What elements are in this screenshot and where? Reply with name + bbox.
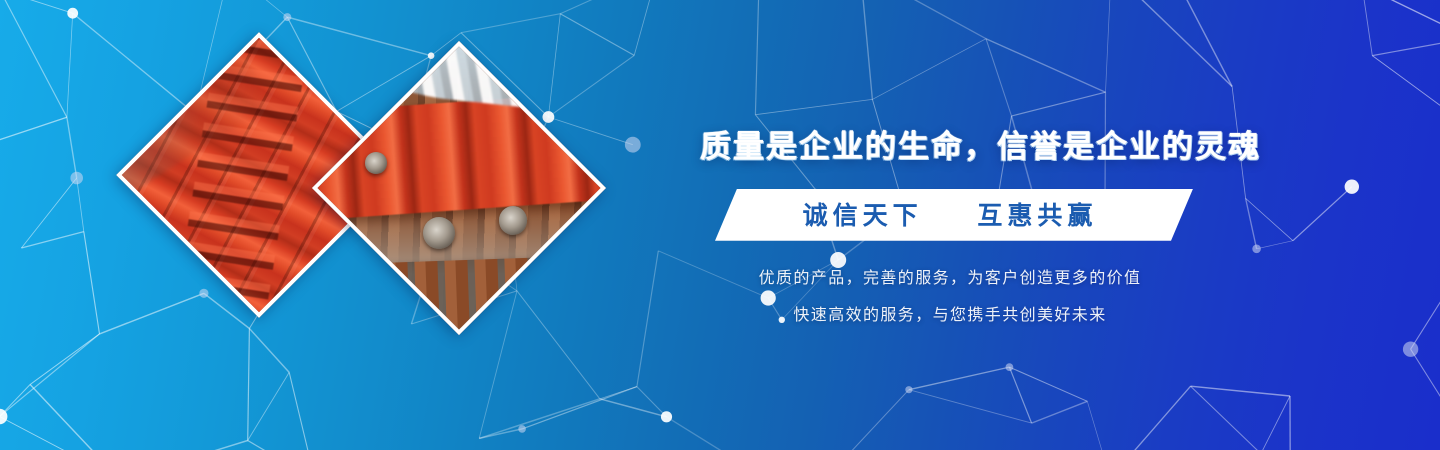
- coupling-flange-icon: [365, 152, 387, 174]
- coupling-flange-icon: [499, 206, 528, 235]
- subtitle-line-1: 优质的产品，完善的服务，为客户创造更多的价值: [700, 264, 1200, 288]
- ribbon-banner: 诚信天下 互惠共赢: [700, 189, 1200, 241]
- headline-slogan: 质量是企业的生命，信誉是企业的灵魂: [700, 128, 1200, 167]
- coupling-flange-icon: [423, 217, 455, 249]
- slogan-block: 质量是企业的生命，信誉是企业的灵魂 诚信天下 互惠共赢 优质的产品，完善的服务，…: [700, 128, 1200, 325]
- promo-banner: 质量是企业的生命，信誉是企业的灵魂 诚信天下 互惠共赢 优质的产品，完善的服务，…: [0, 0, 1440, 450]
- red-couplings-on-wooden-pallets-image: [312, 41, 606, 335]
- product-photo-right-diamond: [312, 41, 606, 335]
- wooden-pallet: [335, 256, 597, 336]
- ribbon-slogan: 诚信天下 互惠共赢: [700, 189, 1200, 241]
- subtitle-line-2: 快速高效的服务，与您携手共创美好未来: [700, 301, 1200, 325]
